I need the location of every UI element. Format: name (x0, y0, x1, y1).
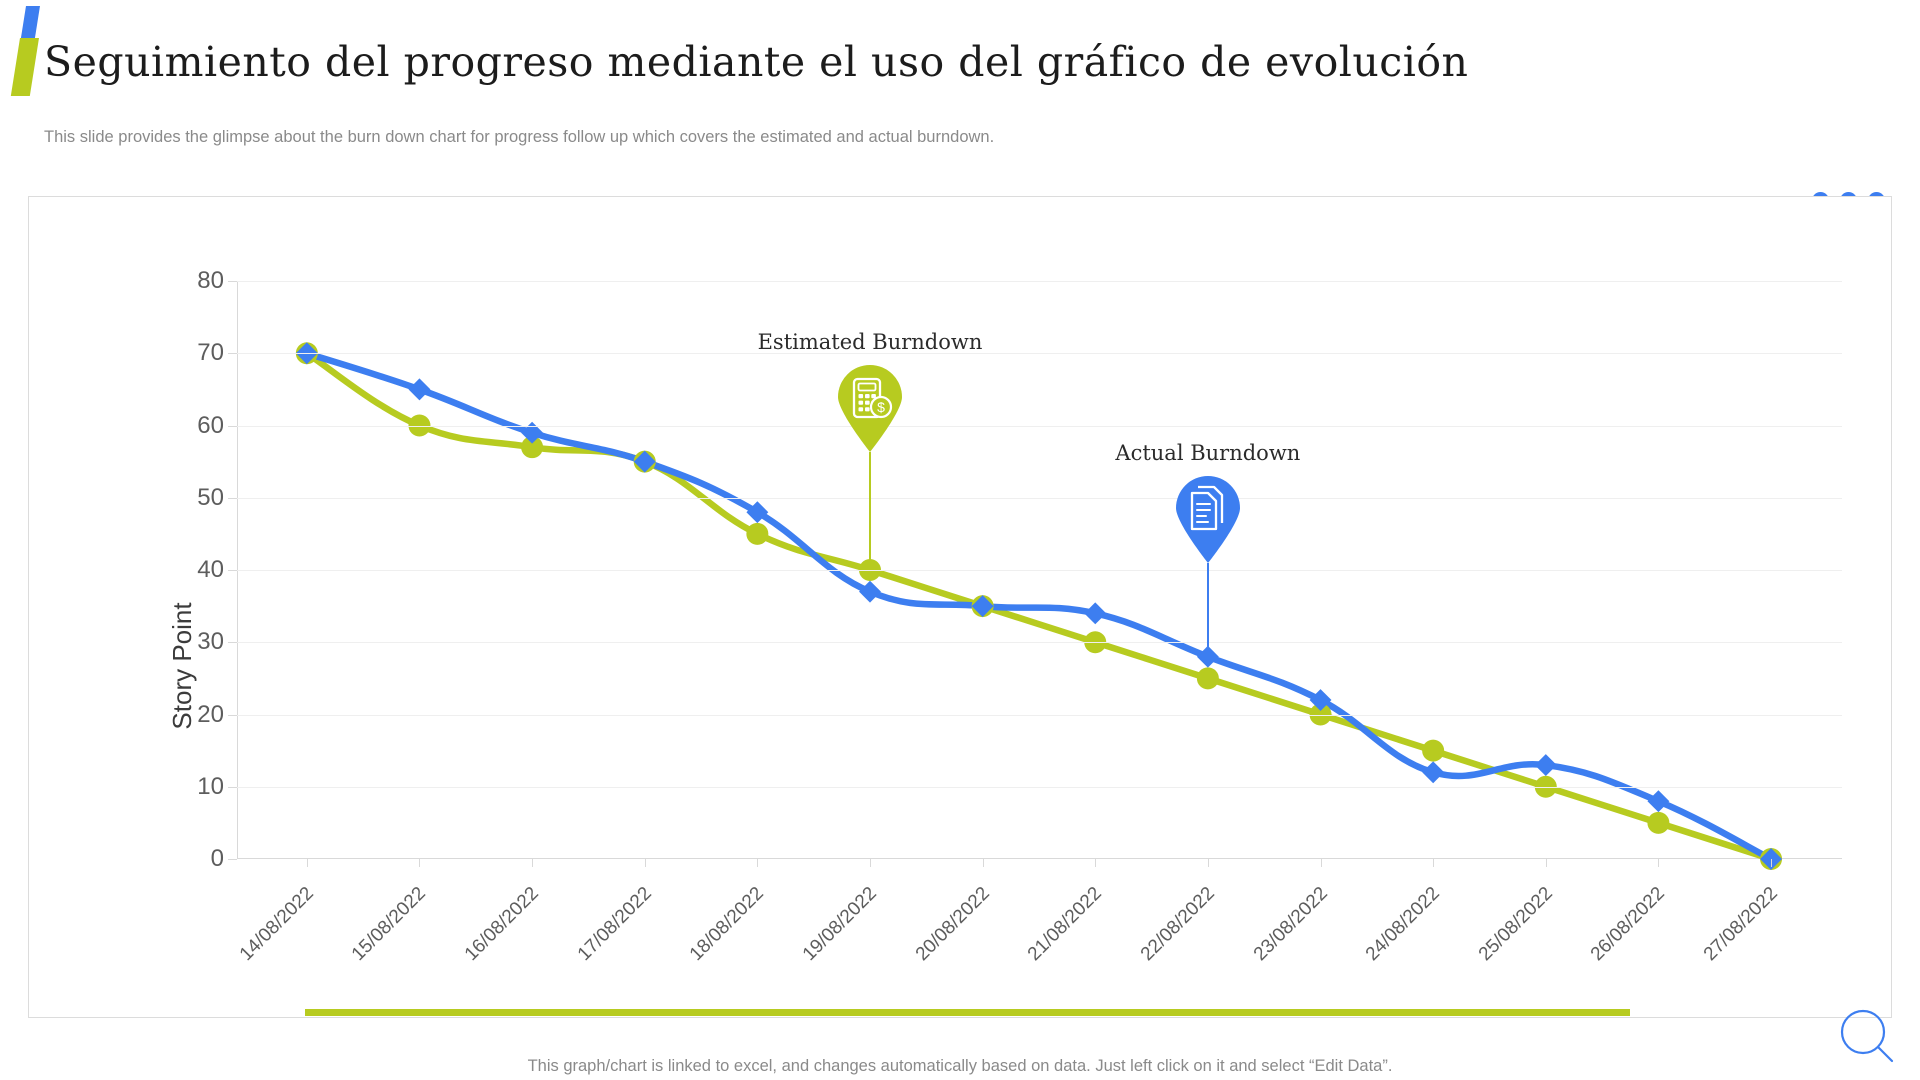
x-tick-mark (645, 859, 646, 867)
x-tick-mark (757, 859, 758, 867)
y-tick-mark (228, 426, 237, 427)
x-tick-label: 14/08/2022 (197, 883, 319, 1005)
x-tick-mark (1546, 859, 1547, 867)
series-marker[interactable] (1422, 761, 1444, 783)
chart-card[interactable]: Story Point 0102030405060708014/08/20221… (28, 196, 1892, 1018)
x-tick-label: 17/08/2022 (535, 883, 657, 1005)
x-tick-label: 27/08/2022 (1661, 883, 1783, 1005)
x-tick-label: 26/08/2022 (1548, 883, 1670, 1005)
y-tick-mark (228, 353, 237, 354)
series-marker[interactable] (746, 523, 768, 545)
x-tick-mark (1208, 859, 1209, 867)
y-tick-mark (228, 498, 237, 499)
x-tick-mark (870, 859, 871, 867)
callout-label: Estimated Burndown (758, 330, 983, 354)
y-tick-mark (228, 715, 237, 716)
y-tick-mark (228, 570, 237, 571)
x-tick-label: 22/08/2022 (1098, 883, 1220, 1005)
document-pages-icon[interactable] (1172, 475, 1244, 563)
green-slant-bar (11, 38, 39, 96)
x-tick-label: 21/08/2022 (985, 883, 1107, 1005)
gridline (237, 570, 1842, 571)
gridline (237, 498, 1842, 499)
plot-inner: 0102030405060708014/08/202215/08/202216/… (237, 281, 1842, 859)
y-tick-label: 20 (164, 701, 224, 729)
y-tick-label: 80 (164, 267, 224, 295)
chart-plot-area[interactable]: Story Point 0102030405060708014/08/20221… (237, 281, 1842, 1051)
page-title: Seguimiento del progreso mediante el uso… (44, 38, 1468, 86)
y-tick-label: 50 (164, 484, 224, 512)
x-tick-mark (983, 859, 984, 867)
gridline (237, 787, 1842, 788)
green-underline-bar (305, 1009, 1630, 1016)
y-tick-label: 30 (164, 628, 224, 656)
series-marker[interactable] (409, 378, 431, 400)
gridline (237, 426, 1842, 427)
y-tick-label: 0 (164, 845, 224, 873)
calculator-dollar-icon[interactable]: $ (834, 364, 906, 452)
series-marker[interactable] (1422, 740, 1444, 762)
y-tick-label: 60 (164, 412, 224, 440)
x-tick-mark (419, 859, 420, 867)
callout-stem (869, 452, 871, 570)
y-tick-mark (228, 281, 237, 282)
x-tick-mark (1658, 859, 1659, 867)
y-tick-label: 70 (164, 339, 224, 367)
y-tick-label: 10 (164, 773, 224, 801)
x-tick-mark (1771, 859, 1772, 867)
x-tick-mark (1095, 859, 1096, 867)
series-marker[interactable] (859, 581, 881, 603)
series-marker[interactable] (1647, 790, 1669, 812)
x-tick-label: 25/08/2022 (1436, 883, 1558, 1005)
gridline (237, 642, 1842, 643)
callout-label: Actual Burndown (1115, 441, 1300, 465)
gridline (237, 715, 1842, 716)
svg-text:$: $ (877, 399, 885, 415)
y-tick-mark (228, 859, 237, 860)
x-tick-mark (532, 859, 533, 867)
x-tick-label: 18/08/2022 (647, 883, 769, 1005)
x-tick-label: 15/08/2022 (309, 883, 431, 1005)
x-tick-label: 19/08/2022 (760, 883, 882, 1005)
gridline (237, 353, 1842, 354)
footer-note: This graph/chart is linked to excel, and… (0, 1057, 1920, 1076)
y-tick-label: 40 (164, 556, 224, 584)
page-subtitle: This slide provides the glimpse about th… (44, 128, 994, 147)
x-tick-label: 16/08/2022 (422, 883, 544, 1005)
series-marker[interactable] (1535, 754, 1557, 776)
x-tick-mark (1321, 859, 1322, 867)
y-tick-mark (228, 787, 237, 788)
x-tick-label: 20/08/2022 (873, 883, 995, 1005)
y-tick-mark (228, 642, 237, 643)
gridline (237, 281, 1842, 282)
series-marker[interactable] (1197, 667, 1219, 689)
x-tick-mark (1433, 859, 1434, 867)
x-tick-label: 24/08/2022 (1323, 883, 1445, 1005)
series-marker[interactable] (1647, 812, 1669, 834)
series-marker[interactable] (1084, 602, 1106, 624)
x-tick-label: 23/08/2022 (1210, 883, 1332, 1005)
magnifier-icon[interactable] (1836, 1006, 1896, 1066)
x-tick-mark (307, 859, 308, 867)
callout-stem (1207, 563, 1209, 657)
